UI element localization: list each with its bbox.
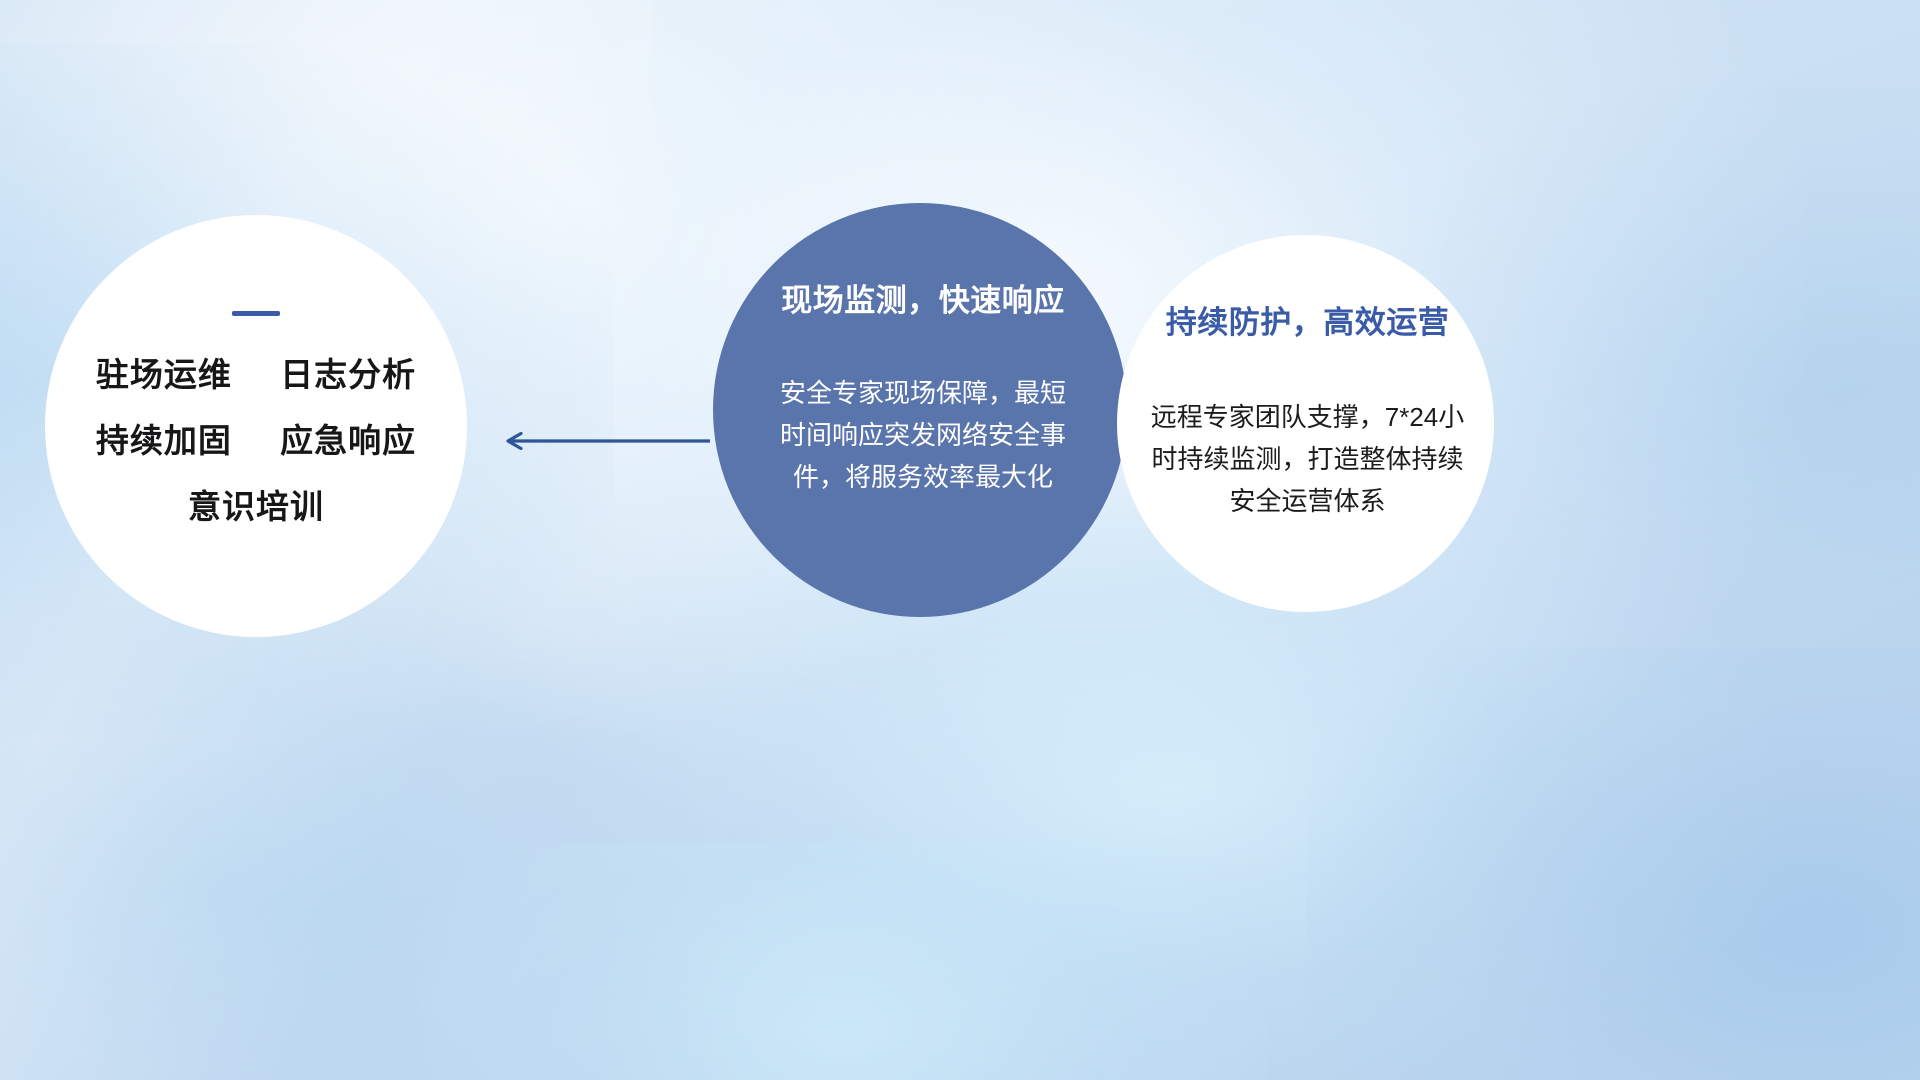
- capability-row: 持续加固 应急响应: [45, 424, 467, 457]
- left-capability-circle[interactable]: 驻场运维 日志分析 持续加固 应急响应 意识培训: [45, 215, 467, 637]
- left-circle-content: 驻场运维 日志分析 持续加固 应急响应 意识培训: [45, 311, 467, 523]
- onsite-monitoring-circle[interactable]: 现场监测，快速响应 安全专家现场保障，最短时间响应突发网络安全事件，将服务效率最…: [713, 203, 1127, 617]
- right-circle-title: 持续防护，高效运营: [1131, 297, 1484, 342]
- arrow-left-icon: [495, 432, 710, 450]
- capability-label: 日志分析: [280, 356, 416, 393]
- continuous-protection-circle[interactable]: 持续防护，高效运营 远程专家团队支撑，7*24小时持续监测，打造整体持续安全运营…: [1117, 235, 1494, 612]
- capability-label: 意识培训: [188, 488, 324, 525]
- capability-row: 驻场运维 日志分析: [45, 358, 467, 391]
- slide-canvas: 驻场运维 日志分析 持续加固 应急响应 意识培训 现场监测，快速响应 安全专家现…: [0, 0, 1920, 1080]
- background-glow-bottom-right: [1306, 648, 1920, 1080]
- capability-label: 驻场运维: [96, 356, 232, 393]
- capability-row: 意识培训: [45, 490, 467, 523]
- accent-dash-icon: [232, 311, 280, 316]
- right-circle-content: 持续防护，高效运营 远程专家团队支撑，7*24小时持续监测，打造整体持续安全运营…: [1131, 297, 1484, 522]
- mid-circle-title: 现场监测，快速响应: [737, 275, 1109, 320]
- capability-label: 持续加固: [96, 422, 232, 459]
- mid-circle-content: 现场监测，快速响应 安全专家现场保障，最短时间响应突发网络安全事件，将服务效率最…: [737, 275, 1109, 498]
- mid-circle-body: 安全专家现场保障，最短时间响应突发网络安全事件，将服务效率最大化: [737, 372, 1109, 498]
- capability-label: 应急响应: [280, 422, 416, 459]
- right-circle-body: 远程专家团队支撑，7*24小时持续监测，打造整体持续安全运营体系: [1131, 396, 1484, 522]
